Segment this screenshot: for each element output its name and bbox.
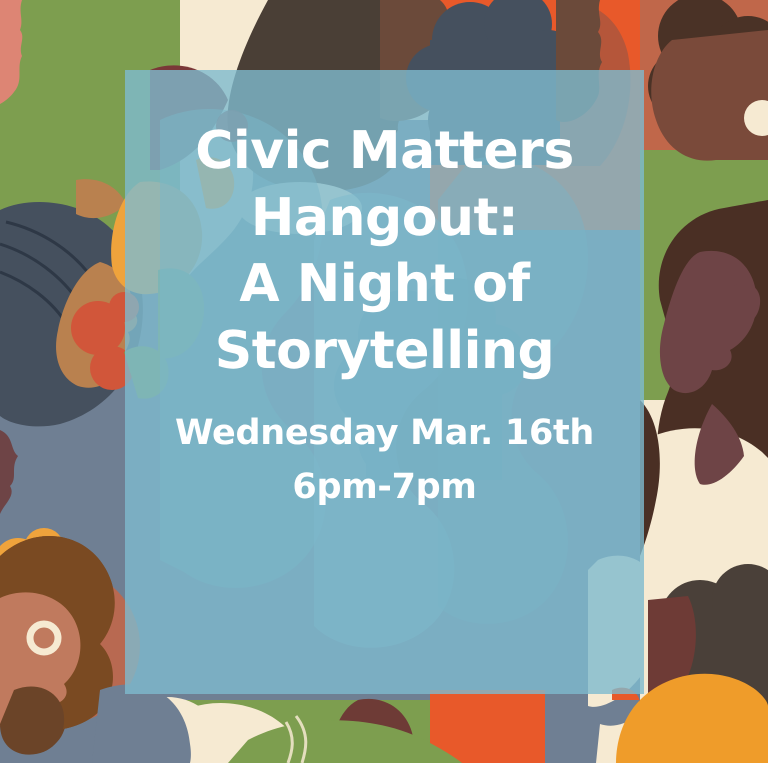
event-flyer: Civic Matters Hangout: A Night of Storyt… [0,0,768,763]
event-date: Wednesday Mar. 16th [175,406,594,460]
event-time: 6pm-7pm [292,460,476,514]
title-line-1: Civic Matters [195,118,574,185]
title-line-4: Storytelling [215,318,554,385]
flyer-text-block: Civic Matters Hangout: A Night of Storyt… [125,70,644,694]
title-line-2: Hangout: [251,185,518,252]
title-line-3: A Night of [239,251,529,318]
